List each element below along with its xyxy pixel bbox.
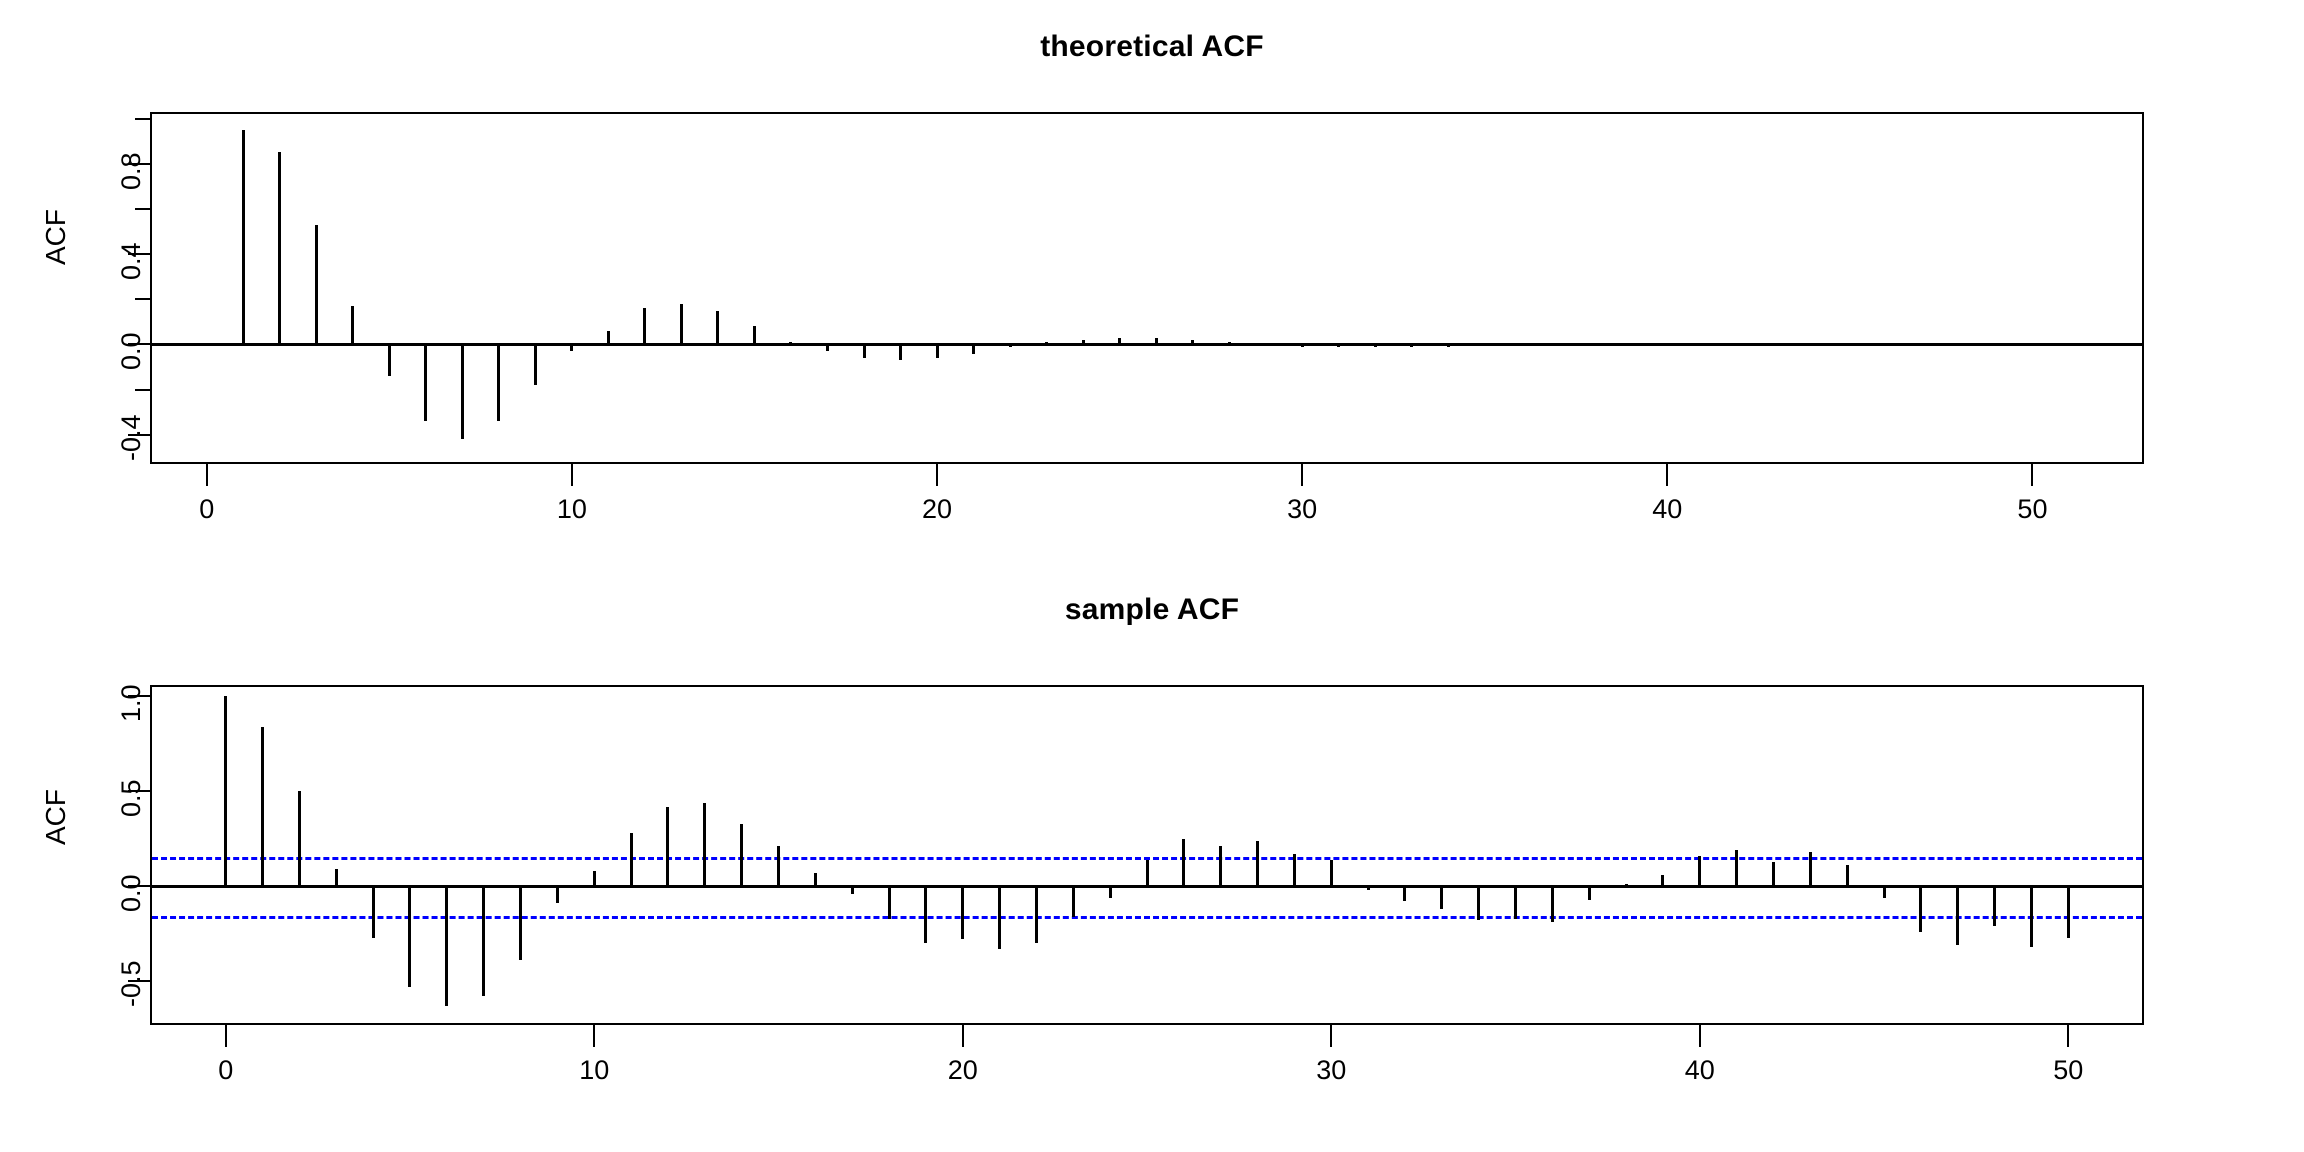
acf-stem — [372, 886, 375, 937]
acf-stem — [1735, 850, 1738, 886]
acf-stem — [570, 344, 573, 351]
acf-stem — [1330, 860, 1333, 887]
acf-stem — [351, 306, 354, 344]
acf-stem — [519, 886, 522, 960]
acf-stem — [1885, 344, 1888, 345]
acf-stem — [2067, 886, 2070, 937]
acf-stem — [851, 886, 854, 894]
x-tick-label: 20 — [897, 494, 977, 525]
y-tick — [128, 343, 150, 345]
acf-stem — [1146, 860, 1149, 887]
x-tick — [571, 464, 573, 486]
acf-stem — [482, 886, 485, 996]
acf-stem — [1812, 344, 1815, 345]
x-tick — [2067, 1025, 2069, 1047]
plot-area-sample — [150, 685, 2144, 1025]
acf-stem — [1551, 886, 1554, 922]
x-tick — [2031, 464, 2033, 486]
acf-stem — [242, 130, 245, 345]
acf-stem — [680, 304, 683, 345]
acf-stem — [497, 344, 500, 421]
acf-stem — [740, 824, 743, 887]
plot-area-theoretical — [150, 112, 2144, 464]
acf-stem — [1698, 856, 1701, 886]
acf-stem — [899, 344, 902, 360]
acf-stem — [461, 344, 464, 439]
acf-stem — [1191, 340, 1194, 345]
acf-stem — [1009, 344, 1012, 346]
y-tick — [128, 253, 150, 255]
acf-stem — [1588, 886, 1591, 899]
acf-stem — [1035, 886, 1038, 943]
acf-stem — [1921, 344, 1924, 345]
acf-stem — [1228, 342, 1231, 344]
acf-stem — [593, 871, 596, 886]
acf-stem — [1182, 839, 1185, 886]
panel-title-theoretical: theoretical ACF — [0, 30, 2304, 64]
x-tick — [206, 464, 208, 486]
acf-stem — [814, 873, 817, 886]
acf-stem — [1293, 854, 1296, 886]
acf-stem — [534, 344, 537, 385]
x-tick — [962, 1025, 964, 1047]
x-tick-label: 30 — [1262, 494, 1342, 525]
acf-stem — [1403, 886, 1406, 901]
acf-stem — [278, 152, 281, 344]
y-tick — [128, 434, 150, 436]
acf-stem — [2030, 886, 2033, 947]
acf-stem — [1772, 862, 1775, 887]
x-tick-label: 0 — [186, 1055, 266, 1086]
acf-stem — [972, 344, 975, 353]
acf-stem — [666, 807, 669, 887]
x-tick-label: 40 — [1627, 494, 1707, 525]
y-axis-title-theoretical: ACF — [40, 209, 72, 265]
acf-stem — [1374, 344, 1377, 346]
y-tick-minor — [135, 389, 150, 391]
x-tick — [1666, 464, 1668, 486]
x-tick — [225, 1025, 227, 1047]
y-tick — [128, 980, 150, 982]
acf-stem — [424, 344, 427, 421]
x-tick — [1301, 464, 1303, 486]
acf-stem — [716, 311, 719, 345]
y-tick-minor — [135, 298, 150, 300]
acf-stem — [556, 886, 559, 903]
acf-stem — [863, 344, 866, 358]
x-tick-label: 50 — [1992, 494, 2072, 525]
y-tick-label: 0.8 — [116, 152, 147, 190]
confidence-band-lower — [152, 916, 2142, 919]
acf-stem — [1109, 886, 1112, 897]
acf-stem — [1337, 344, 1340, 346]
x-tick-label: 10 — [554, 1055, 634, 1086]
x-tick-label: 50 — [2028, 1055, 2108, 1086]
acf-stem — [1155, 338, 1158, 345]
acf-stem — [1846, 865, 1849, 886]
y-tick — [128, 885, 150, 887]
acf-stem — [1520, 344, 1523, 345]
y-tick-minor — [135, 118, 150, 120]
acf-stem — [1993, 886, 1996, 926]
x-tick-label: 20 — [923, 1055, 1003, 1086]
acf-stem — [1593, 344, 1596, 345]
y-tick-label: 0.4 — [116, 243, 147, 281]
acf-stem — [408, 886, 411, 987]
acf-stem — [1477, 886, 1480, 920]
acf-stem — [445, 886, 448, 1006]
acf-stem — [1045, 342, 1048, 344]
y-tick-label: 0.5 — [116, 780, 147, 818]
acf-stem — [703, 803, 706, 887]
acf-stem — [388, 344, 391, 376]
acf-stem — [2104, 344, 2107, 345]
acf-stem — [630, 833, 633, 886]
x-tick-label: 0 — [167, 494, 247, 525]
panel-theoretical-acf: theoretical ACF ACF 0.80.40.0-0.4 010203… — [0, 0, 2304, 560]
y-tick-label: -0.4 — [116, 414, 147, 461]
acf-stem — [1883, 886, 1886, 897]
acf-stem — [1556, 344, 1559, 345]
acf-stem — [643, 308, 646, 344]
acf-stem — [1919, 886, 1922, 932]
acf-stem — [1410, 344, 1413, 346]
acf-stem — [2067, 344, 2070, 345]
y-tick-label: 0.0 — [116, 333, 147, 371]
acf-stem — [1625, 884, 1628, 886]
acf-stem — [1666, 344, 1669, 345]
y-axis-title-sample: ACF — [40, 789, 72, 845]
panel-sample-acf: sample ACF ACF 1.00.50.0-0.5 01020304050 — [0, 560, 2304, 1152]
acf-stem — [1082, 340, 1085, 345]
acf-stem — [1994, 344, 1997, 345]
x-tick-label: 10 — [532, 494, 612, 525]
panel-title-sample: sample ACF — [0, 593, 2304, 627]
acf-stem — [888, 886, 891, 918]
acf-stem — [1440, 886, 1443, 909]
acf-stem — [924, 886, 927, 943]
acf-stem — [777, 846, 780, 886]
acf-stem — [2031, 344, 2034, 345]
acf-stem — [1367, 886, 1370, 890]
x-tick — [1699, 1025, 1701, 1047]
acf-stem — [1514, 886, 1517, 918]
x-tick — [936, 464, 938, 486]
acf-stem — [1264, 344, 1267, 345]
acf-stem — [1447, 344, 1450, 346]
acf-stem — [936, 344, 939, 358]
acf-stem — [335, 869, 338, 886]
acf-stem — [998, 886, 1001, 949]
acf-stem — [1483, 344, 1486, 345]
acf-stem — [1739, 344, 1742, 345]
acf-stem — [789, 342, 792, 344]
acf-stem — [298, 791, 301, 886]
x-tick-label: 30 — [1291, 1055, 1371, 1086]
acf-stem — [1702, 344, 1705, 345]
y-tick — [128, 163, 150, 165]
acf-stem — [1775, 344, 1778, 345]
x-tick — [593, 1025, 595, 1047]
y-tick-label: 1.0 — [116, 685, 147, 723]
acf-stem — [224, 696, 227, 886]
zero-baseline — [152, 343, 2142, 346]
acf-stem — [1301, 344, 1304, 346]
acf-stem — [1848, 344, 1851, 345]
acf-stem — [607, 331, 610, 345]
acf-figure: theoretical ACF ACF 0.80.40.0-0.4 010203… — [0, 0, 2304, 1152]
acf-stem — [1629, 344, 1632, 345]
acf-stem — [315, 225, 318, 345]
acf-stem — [261, 727, 264, 886]
y-tick — [128, 790, 150, 792]
acf-stem — [826, 344, 829, 351]
acf-stem — [1958, 344, 1961, 345]
acf-stem — [753, 326, 756, 344]
y-tick-label: -0.5 — [116, 961, 147, 1008]
y-tick — [128, 695, 150, 697]
acf-stem — [1809, 852, 1812, 886]
x-tick-label: 40 — [1660, 1055, 1740, 1086]
acf-stem — [1661, 875, 1664, 886]
acf-stem — [1956, 886, 1959, 945]
y-tick-minor — [135, 208, 150, 210]
acf-stem — [1219, 846, 1222, 886]
x-tick — [1330, 1025, 1332, 1047]
acf-stem — [961, 886, 964, 939]
y-tick-label: 0.0 — [116, 875, 147, 913]
acf-stem — [1118, 338, 1121, 345]
acf-stem — [1256, 841, 1259, 887]
acf-stem — [1072, 886, 1075, 916]
